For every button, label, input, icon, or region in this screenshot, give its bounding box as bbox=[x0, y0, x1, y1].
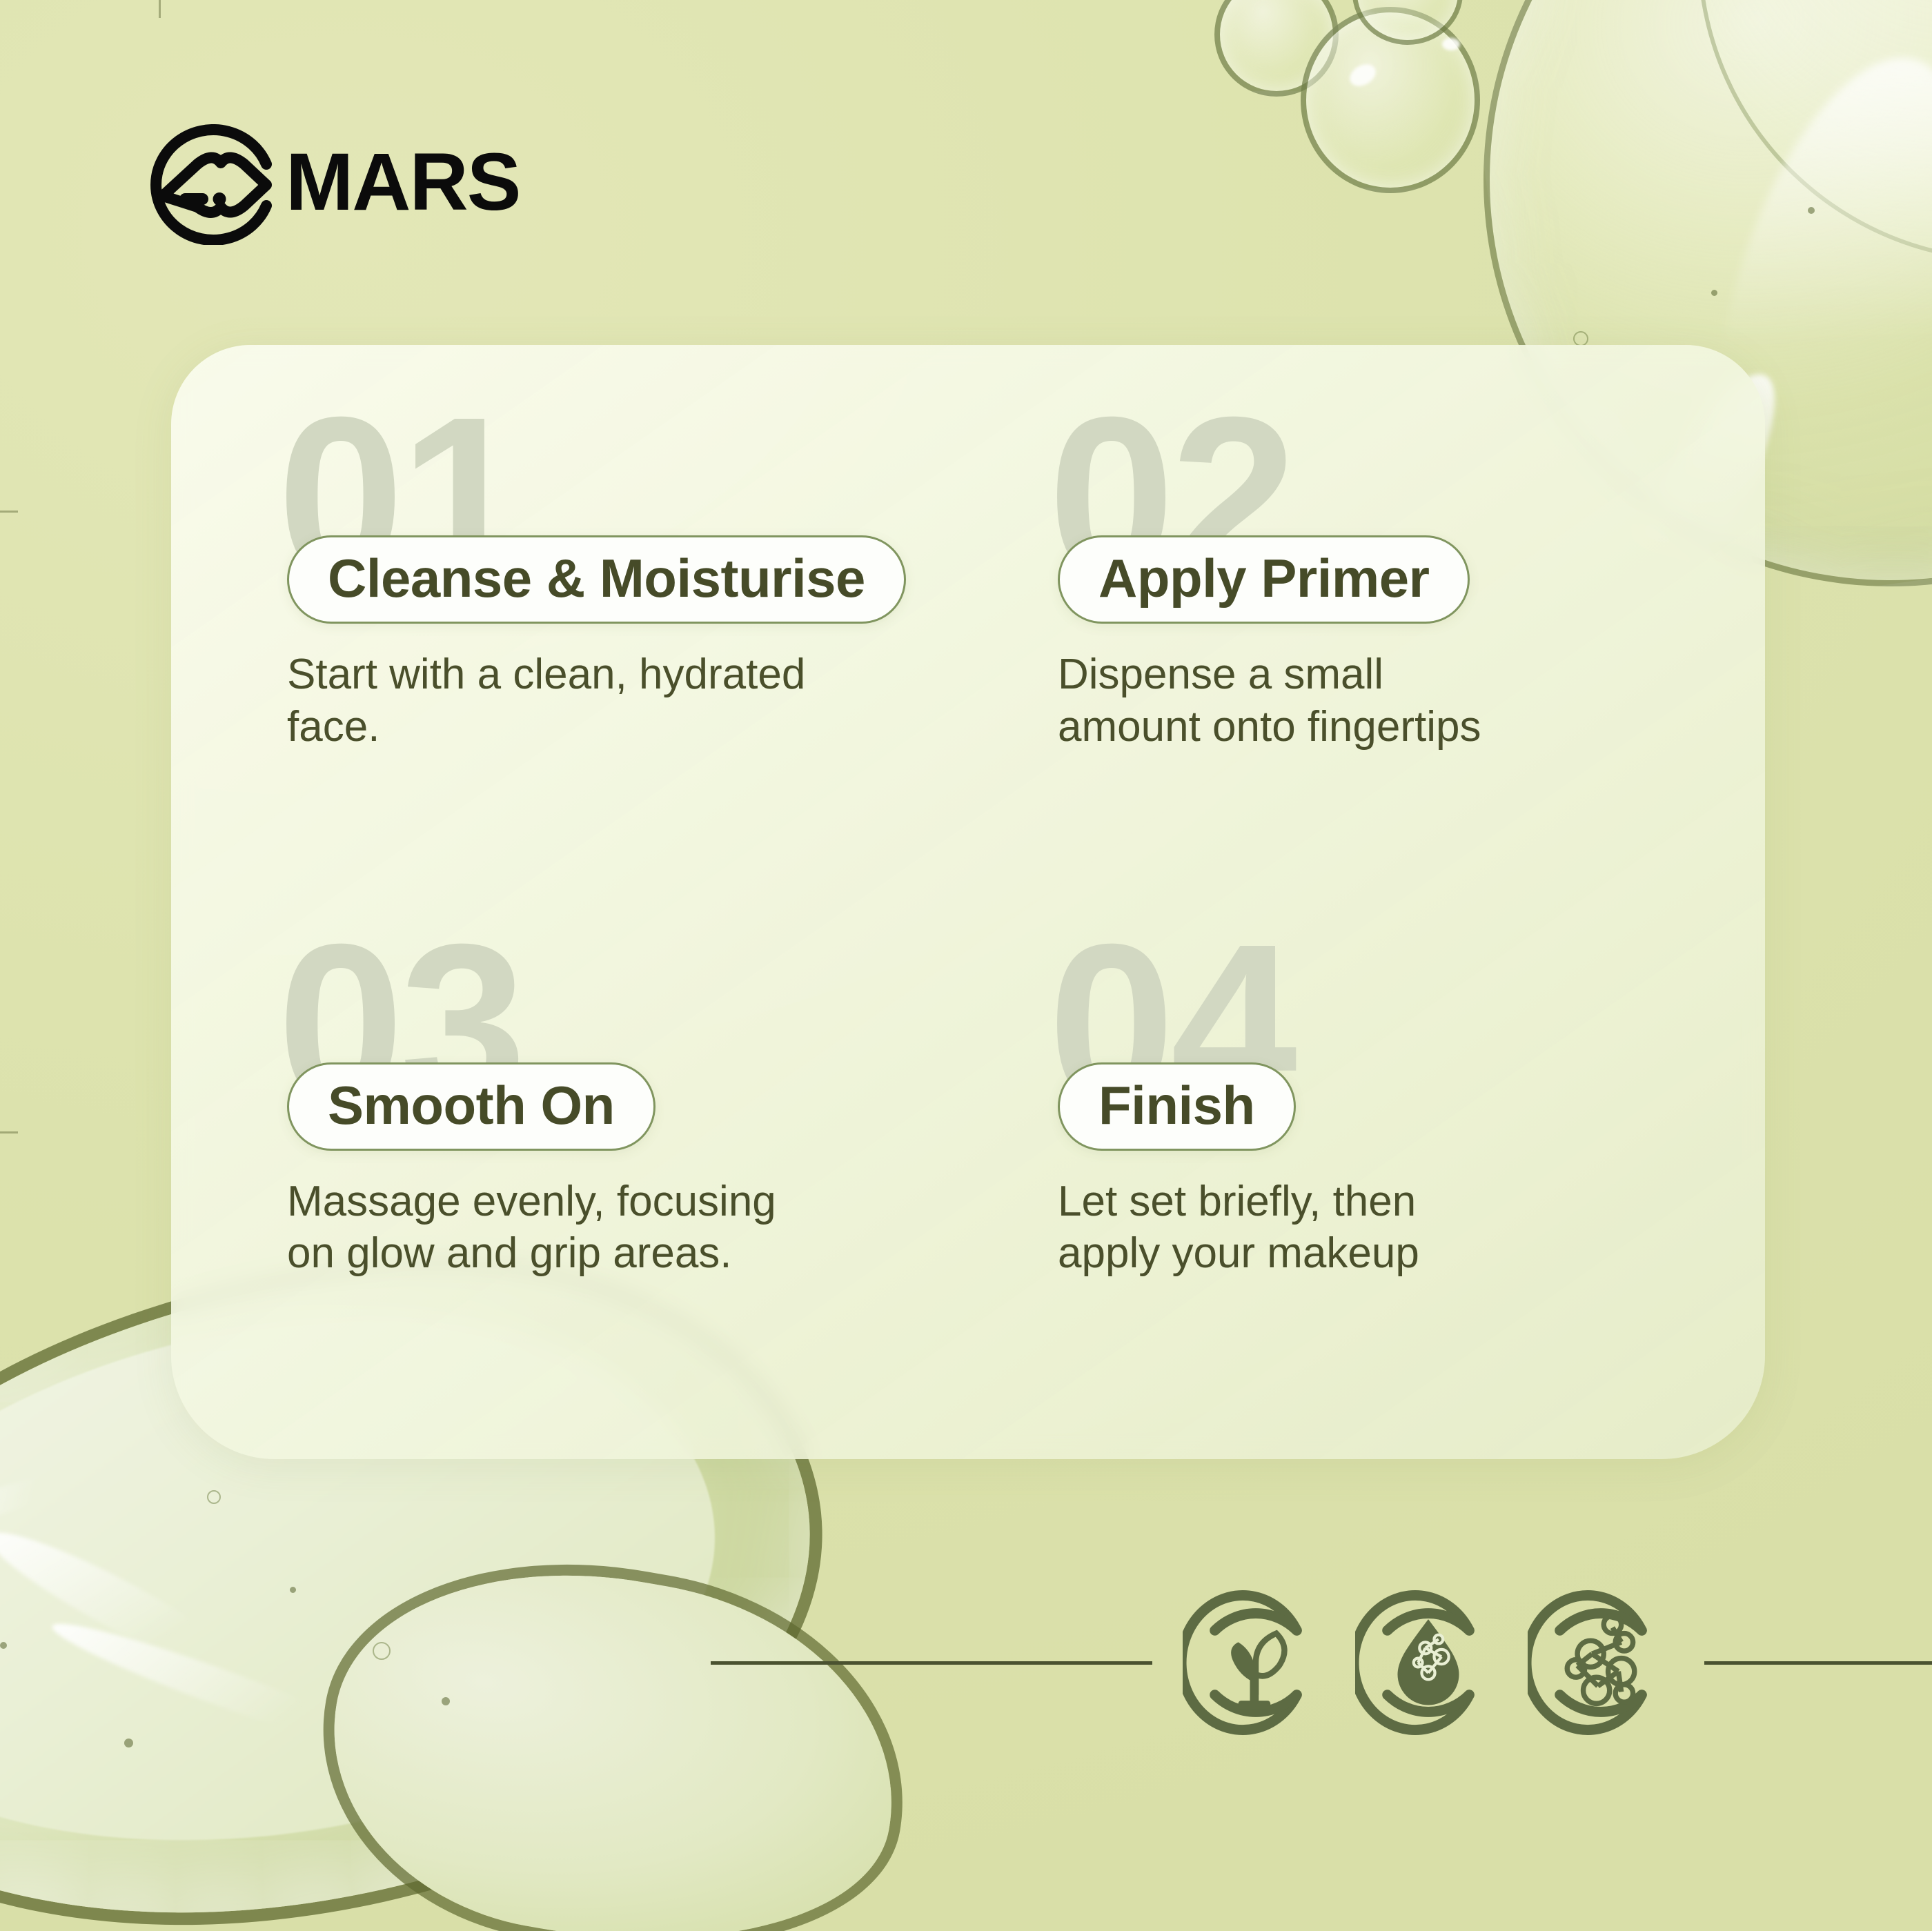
molecule-icon bbox=[1528, 1590, 1674, 1736]
droplet-highlight bbox=[1442, 38, 1460, 50]
badge-group bbox=[1183, 1590, 1674, 1736]
gel-speck bbox=[1711, 290, 1717, 296]
badge-active-molecule[interactable] bbox=[1528, 1590, 1674, 1736]
step-description: Dispense a small amount onto fingertips bbox=[1058, 648, 1765, 753]
badge-plant-based[interactable] bbox=[1183, 1590, 1329, 1736]
step-title-badge[interactable]: Smooth On bbox=[287, 1062, 655, 1151]
divider-right bbox=[1704, 1661, 1932, 1665]
step-description: Start with a clean, hydrated face. bbox=[287, 648, 968, 753]
droplet-molecule-icon bbox=[1355, 1590, 1501, 1736]
step-item-03[interactable]: 03 Smooth On Massage evenly, focusing on… bbox=[171, 902, 968, 1460]
step-title: Smooth On bbox=[328, 1078, 615, 1132]
step-description: Massage evenly, focusing on glow and gri… bbox=[287, 1176, 968, 1280]
step-title: Apply Primer bbox=[1098, 551, 1429, 605]
mars-lips-circle-icon bbox=[144, 124, 282, 245]
step-title-badge[interactable]: Finish bbox=[1058, 1062, 1296, 1151]
badge-hydrating-serum[interactable] bbox=[1355, 1590, 1501, 1736]
step-item-04[interactable]: 04 Finish Let set briefly, then apply yo… bbox=[968, 902, 1765, 1460]
step-item-02[interactable]: 02 Apply Primer Dispense a small amount … bbox=[968, 345, 1765, 902]
gel-speck bbox=[1808, 207, 1815, 214]
gel-bubble bbox=[207, 1490, 221, 1504]
edge-tick bbox=[0, 1131, 18, 1133]
svg-text:MARS: MARS bbox=[286, 143, 520, 226]
plant-leaf-icon bbox=[1183, 1590, 1329, 1736]
step-title-badge[interactable]: Apply Primer bbox=[1058, 535, 1470, 624]
step-item-01[interactable]: 01 Cleanse & Moisturise Start with a cle… bbox=[171, 345, 968, 902]
steps-grid: 01 Cleanse & Moisturise Start with a cle… bbox=[171, 345, 1765, 1459]
brand-wordmark: MARS bbox=[286, 143, 555, 226]
step-title: Finish bbox=[1098, 1078, 1255, 1132]
step-title: Cleanse & Moisturise bbox=[328, 551, 865, 605]
step-title-badge[interactable]: Cleanse & Moisturise bbox=[287, 535, 906, 624]
steps-card: 01 Cleanse & Moisturise Start with a cle… bbox=[171, 345, 1765, 1459]
gel-bubble bbox=[1573, 331, 1588, 346]
edge-tick bbox=[159, 0, 161, 18]
brand-logo[interactable]: MARS bbox=[144, 124, 555, 245]
divider-left bbox=[711, 1661, 1152, 1665]
edge-tick bbox=[0, 511, 18, 513]
step-description: Let set briefly, then apply your makeup bbox=[1058, 1176, 1765, 1280]
footer-badges-row bbox=[0, 1580, 1932, 1745]
